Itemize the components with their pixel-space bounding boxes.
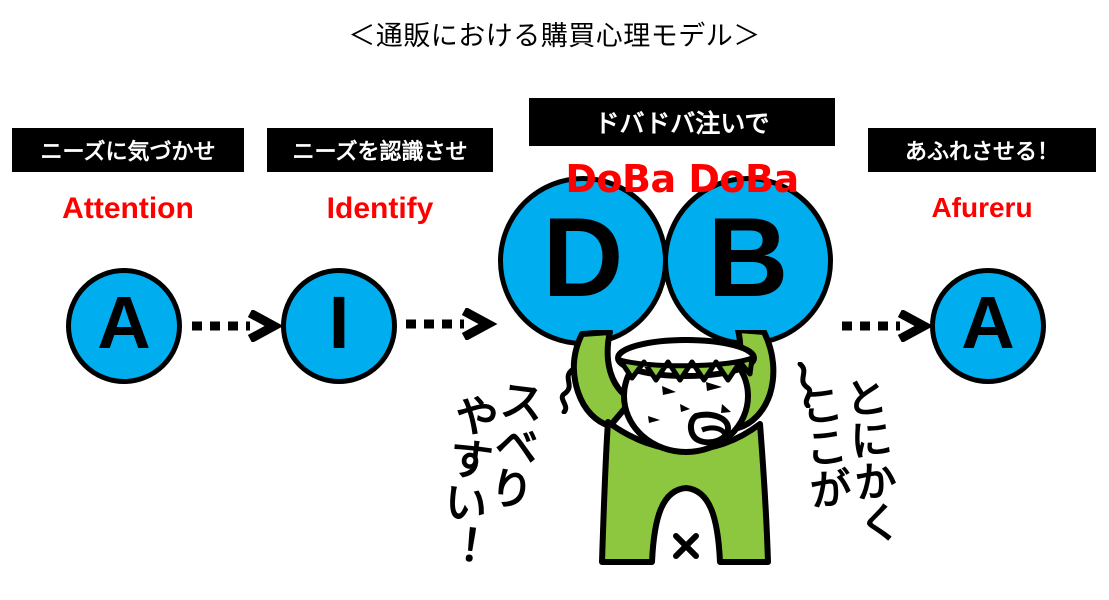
step-circle-letter-afureru: A	[961, 286, 1014, 360]
flow-arrow-3	[840, 310, 940, 342]
dashed-arrow-icon	[404, 308, 504, 340]
step-english-label-attention: Attention	[12, 192, 244, 226]
step-circle-letter-b: B	[708, 202, 789, 314]
step-circle-doba-right: B	[663, 176, 833, 346]
step-circle-afureru: A	[930, 268, 1046, 384]
annotation-kokoga: ここが	[795, 382, 851, 512]
annotation-yasui: やすい！	[430, 390, 496, 570]
step-chip-identify: ニーズを認識させ	[267, 128, 493, 172]
step-circle-letter-attention: A	[97, 286, 150, 360]
diagram-canvas: ＜通販における購買心理モデル＞ ニーズに気づかせ Attention A ニーズ…	[0, 0, 1109, 600]
dashed-arrow-icon	[840, 310, 940, 342]
flow-arrow-1	[190, 310, 290, 342]
step-circle-doba-left: D	[498, 176, 668, 346]
chest-x-mark	[676, 536, 696, 556]
step-chip-afureru: あふれさせる！	[868, 128, 1096, 172]
page-title: ＜通販における購買心理モデル＞	[0, 14, 1109, 53]
step-chip-attention: ニーズに気づかせ	[12, 128, 244, 172]
step-circle-attention: A	[66, 268, 182, 384]
dashed-arrow-icon	[190, 310, 290, 342]
step-circle-identify: I	[281, 268, 397, 384]
flow-arrow-2	[404, 308, 504, 340]
step-english-label-afureru: Afureru	[868, 192, 1096, 224]
step-circle-letter-identify: I	[329, 286, 350, 360]
step-english-label-doba-doba: DoBa DoBa	[529, 157, 835, 201]
step-english-label-identify: Identify	[267, 192, 493, 226]
step-circle-letter-d: D	[543, 202, 624, 314]
step-chip-doba-doba: ドバドバ注いで	[529, 98, 835, 146]
motion-squiggle-left-icon	[556, 368, 582, 414]
